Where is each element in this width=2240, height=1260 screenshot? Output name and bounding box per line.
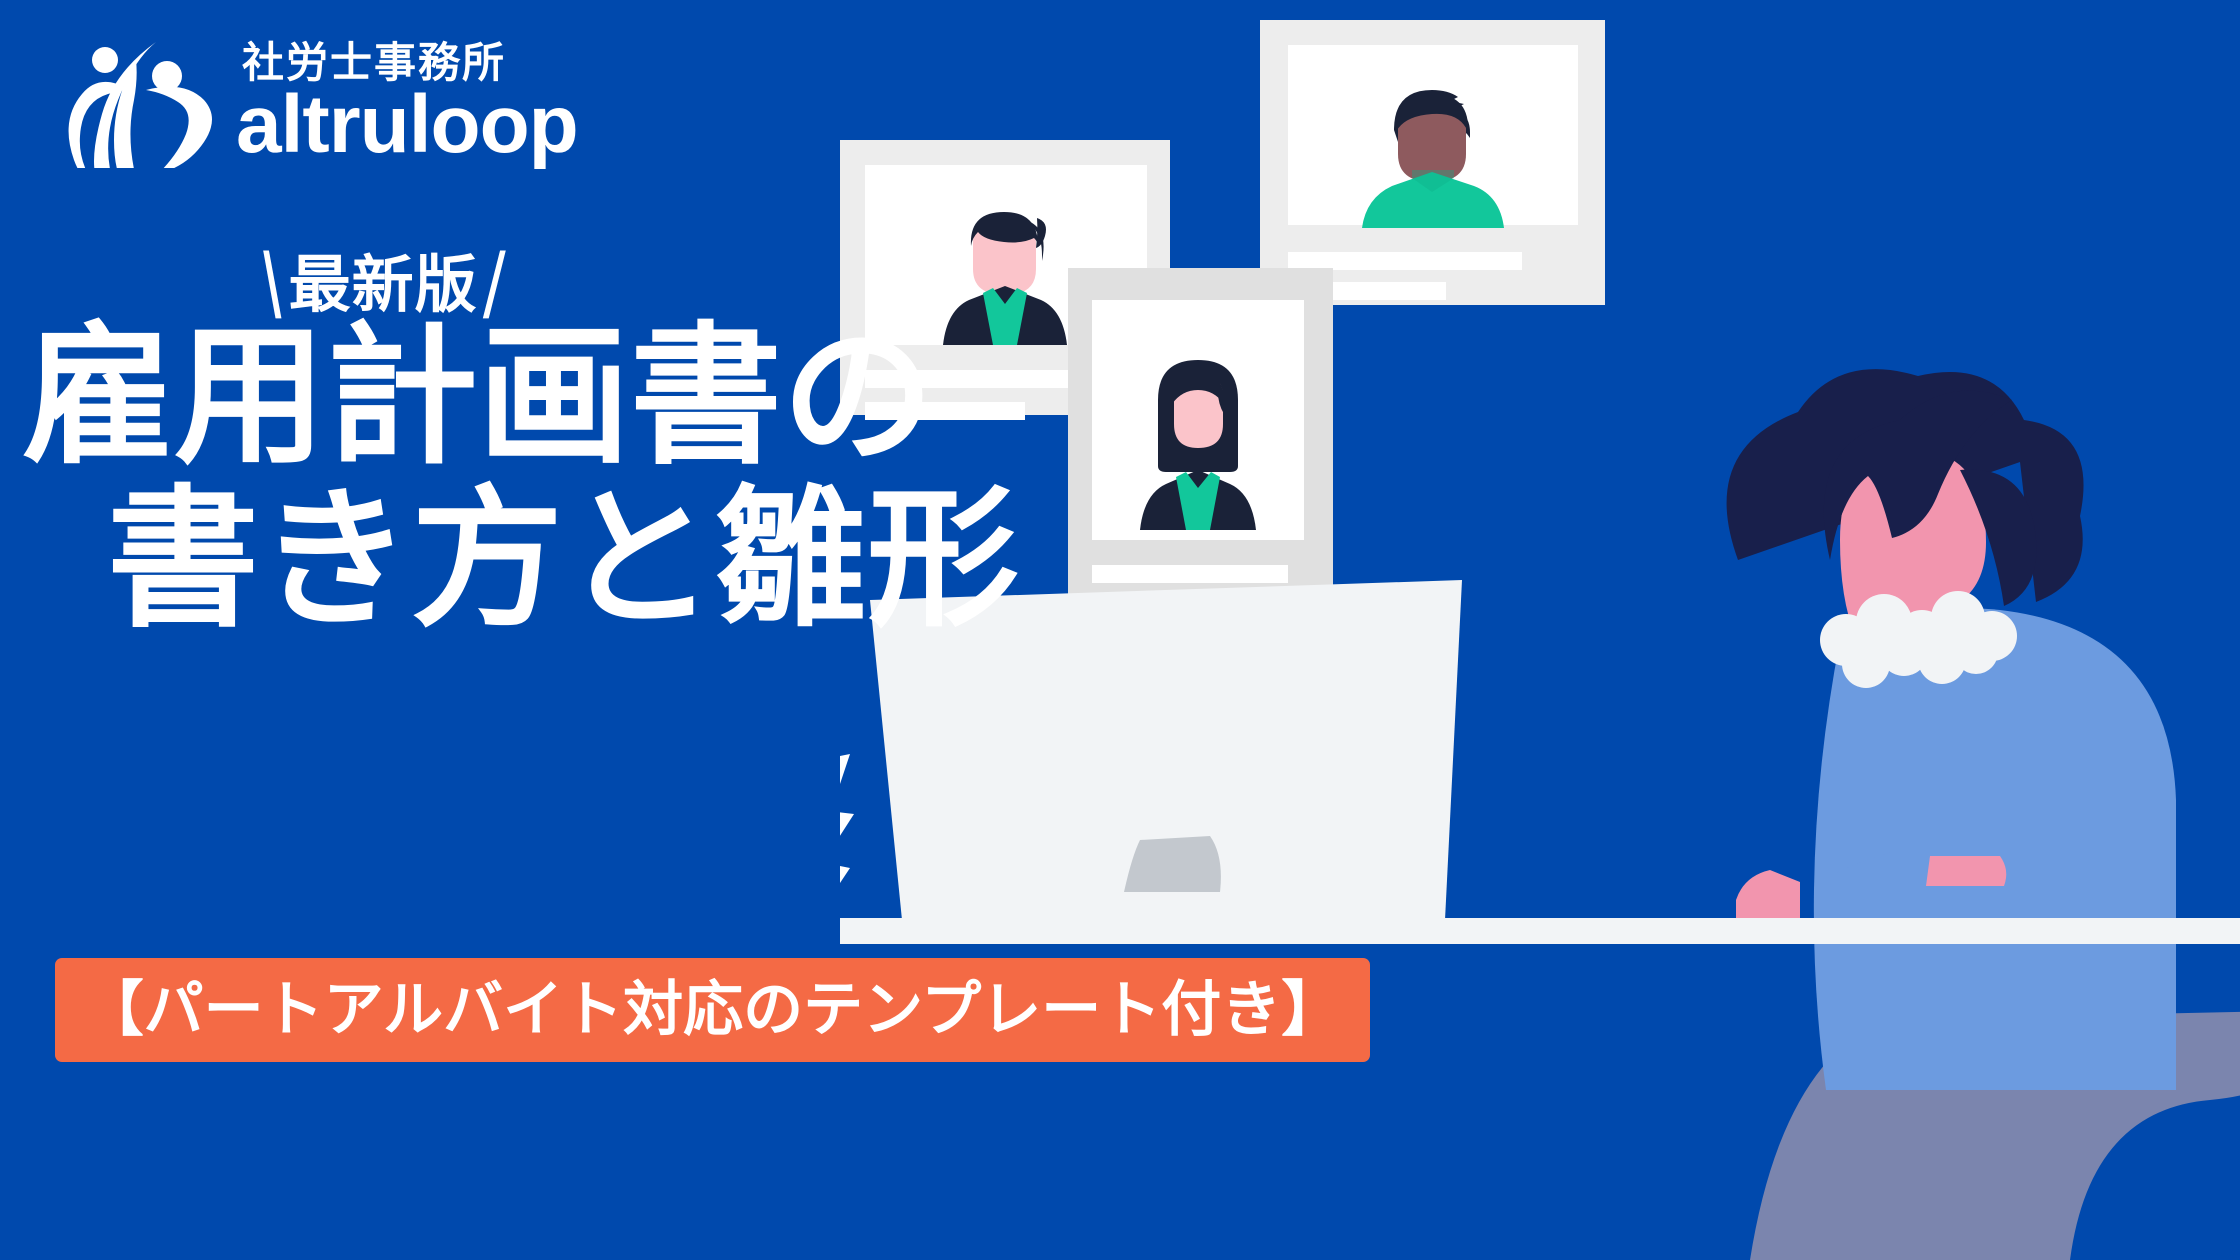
profile-card-right [1260, 20, 1605, 305]
brand-logo[interactable]: 社労士事務所 altruloop [60, 28, 578, 168]
two-people-loop-icon [60, 28, 220, 168]
template-badge: 【パートアルバイト対応のテンプレート付き】 [55, 958, 1370, 1062]
template-badge-label: 【パートアルバイト対応のテンプレート付き】 [84, 980, 1342, 1040]
page-title-line-2: 書き方と雛形 [18, 483, 1078, 638]
page-title: 雇用計画書の 書き方と雛形 [18, 320, 1078, 638]
logo-wordmark: altruloop [236, 86, 578, 164]
page-title-line-1: 雇用計画書の [18, 320, 1078, 475]
logo-kanji-label: 社労士事務所 [236, 42, 506, 84]
hero-banner: 社労士事務所 altruloop \ 最新版 / 雇用計画書の 書き方と雛形 【… [0, 0, 2240, 1260]
tagline-text: 最新版 [289, 255, 478, 317]
profile-card-center [1068, 268, 1333, 653]
